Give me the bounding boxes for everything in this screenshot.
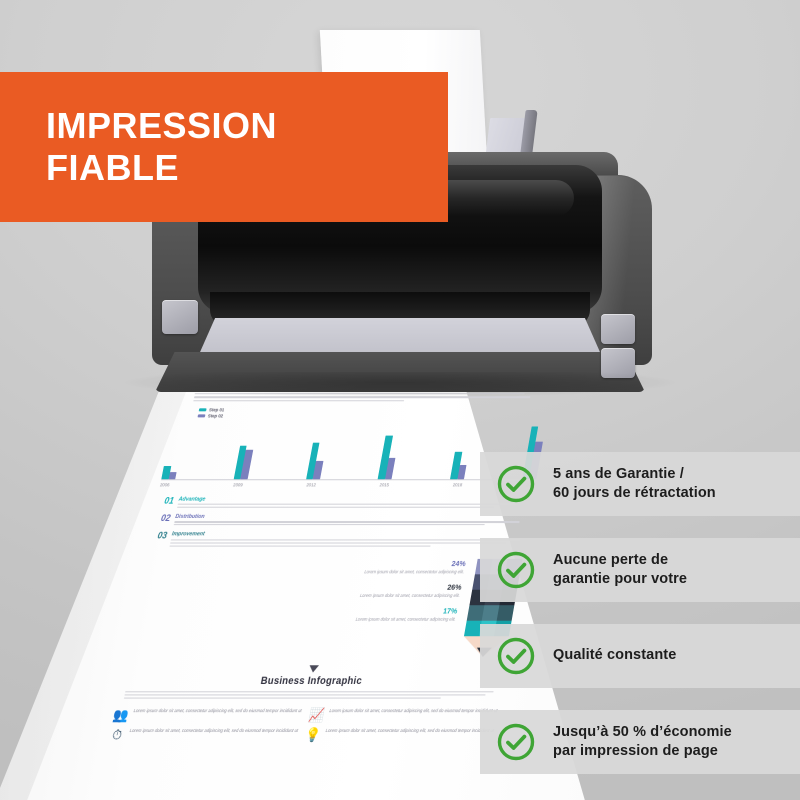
headline-line-1: IMPRESSION <box>46 105 448 147</box>
feature-text-4: Jusqu’à 50 % d’économie par impression d… <box>553 723 732 761</box>
icon-feature-cell: 👥 Lorem ipsum dolor sit amet, consectetu… <box>112 708 303 722</box>
list-item: 02 Distribution <box>159 514 528 528</box>
donut-value: 37% <box>384 341 430 383</box>
bar-group <box>161 466 178 479</box>
promo-banner-image: Banner Infographics 36% 37% Step 01 <box>0 0 800 800</box>
feature-text-2: Aucune perte de garantie pour votre <box>553 551 687 589</box>
x-tick-label: 2012 <box>302 482 320 487</box>
feature-text-1: 5 ans de Garantie / 60 jours de rétracta… <box>553 465 716 503</box>
feature-text-1-line-2: 60 jours de rétractation <box>553 484 716 503</box>
list-item: 01 Advantage <box>163 496 532 510</box>
icon-feature-grid: 👥 Lorem ipsum dolor sit amet, consectetu… <box>108 708 498 741</box>
feature-row-4: Jusqu’à 50 % d’économie par impression d… <box>480 710 800 774</box>
bar-chart-growth-icon: 📈 <box>308 708 327 722</box>
funnel-percent: 24% <box>142 559 467 568</box>
people-group-icon: 👥 <box>112 708 131 722</box>
feature-row-1: 5 ans de Garantie / 60 jours de rétracta… <box>480 452 800 516</box>
icon-feature-cell: 💡 Lorem ipsum dolor sit amet, consectetu… <box>304 728 495 742</box>
funnel-text: Lorem ipsum dolor sit amet, consectetur … <box>141 569 465 575</box>
feature-row-3: Qualité constante <box>480 624 800 688</box>
funnel-entry: 17% Lorem ipsum dolor sit amet, consecte… <box>131 606 463 623</box>
lightbulb-icon: 💡 <box>304 728 323 742</box>
bar <box>457 465 467 480</box>
list-number: 01 <box>163 496 175 510</box>
bar-group <box>306 443 327 480</box>
funnel-section: 24% Lorem ipsum dolor sit amet, consecte… <box>125 559 523 657</box>
x-tick-label: 2009 <box>229 482 247 487</box>
x-tick-label: 2015 <box>376 482 394 487</box>
business-heading: Business Infographic <box>113 675 510 686</box>
check-circle-icon <box>496 722 536 762</box>
donut-chart-1: 36% <box>310 341 357 383</box>
numbered-list: 01 Advantage 02 Distribution 0 <box>155 496 531 548</box>
check-circle-icon <box>496 550 536 590</box>
bar-group <box>233 446 253 480</box>
list-text-placeholder <box>174 521 528 525</box>
legend-item: Step 01 <box>198 407 556 412</box>
x-tick-label: 2018 <box>449 482 467 487</box>
page-title: Banner Infographics <box>183 326 571 332</box>
icon-feature-text: Lorem ipsum dolor sit amet, consectetur … <box>133 708 302 714</box>
headline-line-2: FIABLE <box>46 147 448 189</box>
check-circle-icon <box>496 636 536 676</box>
funnel-text: Lorem ipsum dolor sit amet, consectetur … <box>136 593 460 599</box>
paper-guide <box>482 118 532 186</box>
legend-item: Step 02 <box>197 414 555 419</box>
list-heading: Advantage <box>178 496 531 502</box>
legend-swatch <box>197 415 205 418</box>
donut-value: 36% <box>310 341 357 383</box>
donut-chart-group: 36% 37% <box>173 341 568 383</box>
clock-icon: ⏱ <box>108 728 127 742</box>
bar-group <box>378 435 400 479</box>
feature-text-4-line-1: Jusqu’à 50 % d’économie <box>553 723 732 742</box>
printer-body-highlight <box>560 176 652 362</box>
list-number: 02 <box>159 514 171 528</box>
printer-button-right-bottom[interactable] <box>601 348 635 378</box>
bar <box>168 472 176 479</box>
paragraph-placeholder <box>193 390 535 401</box>
funnel-entry: 24% Lorem ipsum dolor sit amet, consecte… <box>141 559 473 575</box>
donut-chart-2: 37% <box>384 341 430 383</box>
funnel-percent: 17% <box>133 606 458 615</box>
icon-feature-cell: 📈 Lorem ipsum dolor sit amet, consectetu… <box>308 708 499 722</box>
list-heading: Distribution <box>175 514 529 520</box>
check-circle-icon <box>496 464 536 504</box>
funnel-entry: 26% Lorem ipsum dolor sit amet, consecte… <box>136 582 468 598</box>
legend-swatch <box>199 408 207 411</box>
list-text-placeholder <box>170 539 524 546</box>
feature-text-3-line-1: Qualité constante <box>553 646 676 665</box>
list-text-placeholder <box>177 504 530 508</box>
feature-text-2-line-2: garantie pour votre <box>553 570 687 589</box>
list-heading: Improvement <box>171 532 525 538</box>
list-number: 03 <box>155 532 168 549</box>
funnel-percent: 26% <box>137 582 462 591</box>
bar-group <box>450 452 469 480</box>
funnel-text: Lorem ipsum dolor sit amet, consectetur … <box>131 617 456 623</box>
business-paragraph-placeholder <box>124 691 494 699</box>
icon-feature-text: Lorem ipsum dolor sit amet, consectetur … <box>129 728 298 734</box>
feature-text-3: Qualité constante <box>553 646 676 665</box>
headline-banner: IMPRESSION FIABLE <box>0 72 448 222</box>
legend-label: Step 02 <box>207 414 223 419</box>
legend-label: Step 01 <box>209 407 225 412</box>
printer-button-right-top[interactable] <box>601 314 635 344</box>
icon-feature-cell: ⏱ Lorem ipsum dolor sit amet, consectetu… <box>108 728 299 742</box>
icon-feature-text: Lorem ipsum dolor sit amet, consectetur … <box>329 708 498 714</box>
down-arrow-icon <box>308 665 319 672</box>
paper-guide-edge <box>516 110 537 186</box>
feature-text-4-line-2: par impression de page <box>553 742 732 761</box>
list-item: 03 Improvement <box>155 532 525 549</box>
bar-chart-legend: Step 01 Step 02 <box>197 407 556 419</box>
feature-text-2-line-1: Aucune perte de <box>553 551 687 570</box>
icon-feature-text: Lorem ipsum dolor sit amet, consectetur … <box>325 728 494 734</box>
feature-text-1-line-1: 5 ans de Garantie / <box>553 465 716 484</box>
x-tick-label: 2006 <box>156 482 174 487</box>
feature-row-2: Aucune perte de garantie pour votre <box>480 538 800 602</box>
feature-list: 5 ans de Garantie / 60 jours de rétracta… <box>480 452 800 774</box>
